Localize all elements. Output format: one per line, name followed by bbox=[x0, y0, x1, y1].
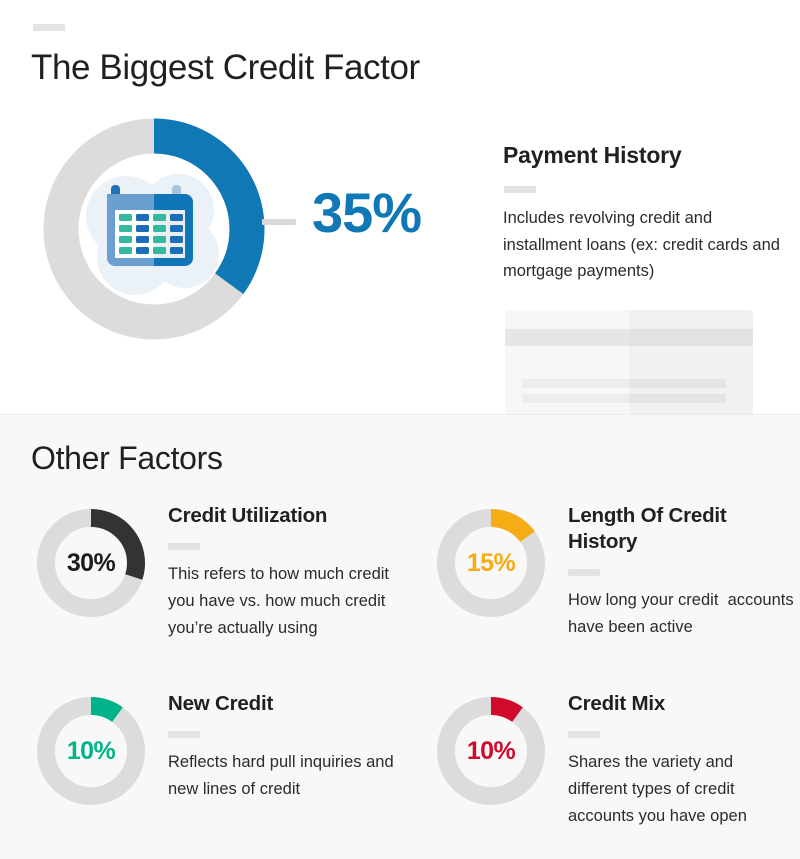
doc-line bbox=[522, 394, 726, 403]
factor-text-block: New Credit Reflects hard pull inquiries … bbox=[168, 691, 396, 803]
credit-mix-percent: 10% bbox=[436, 696, 546, 806]
factor-title: Length Of Credit History bbox=[568, 503, 796, 555]
factor-title: New Credit bbox=[168, 691, 396, 717]
factor-description: Shares the variety and different types o… bbox=[568, 749, 796, 829]
payment-history-donut bbox=[43, 118, 265, 340]
factor-description: How long your credit accounts have been … bbox=[568, 587, 796, 640]
payment-history-description: Includes revolving credit and installmen… bbox=[503, 205, 785, 285]
payment-history-heading: Payment History bbox=[503, 142, 682, 169]
payment-history-accent-dash bbox=[504, 186, 536, 193]
factor-accent-dash bbox=[168, 543, 200, 550]
doc-header-bar-shade bbox=[629, 329, 753, 346]
factor-title: Credit Mix bbox=[568, 691, 796, 717]
factor-description: This refers to how much credit you have … bbox=[168, 561, 396, 641]
title-accent-dash bbox=[33, 24, 65, 31]
new-credit-percent: 10% bbox=[36, 696, 146, 806]
page-title: The Biggest Credit Factor bbox=[31, 47, 420, 88]
factor-text-block: Credit Mix Shares the variety and differ… bbox=[568, 691, 796, 829]
credit-utilization-percent: 30% bbox=[36, 508, 146, 618]
factor-accent-dash bbox=[568, 731, 600, 738]
biggest-factor-section: The Biggest Credit Factor bbox=[0, 0, 800, 414]
calendar-icon bbox=[107, 185, 193, 266]
factor-text-block: Length Of Credit History How long your c… bbox=[568, 503, 796, 641]
document-decoration bbox=[505, 310, 753, 414]
factor-description: Reflects hard pull inquiries and new lin… bbox=[168, 749, 396, 802]
factor-text-block: Credit Utilization This refers to how mu… bbox=[168, 503, 396, 641]
other-factors-title: Other Factors bbox=[31, 440, 223, 477]
other-factors-section: Other Factors 30% Credit Utilization Thi… bbox=[0, 414, 800, 859]
length-of-credit-history-percent: 15% bbox=[436, 508, 546, 618]
doc-line bbox=[522, 379, 726, 388]
donut-connector-dash bbox=[262, 219, 296, 225]
payment-history-percent: 35% bbox=[312, 185, 421, 241]
infographic-page: The Biggest Credit Factor bbox=[0, 0, 800, 859]
factor-title: Credit Utilization bbox=[168, 503, 396, 529]
factor-accent-dash bbox=[168, 731, 200, 738]
factor-accent-dash bbox=[568, 569, 600, 576]
